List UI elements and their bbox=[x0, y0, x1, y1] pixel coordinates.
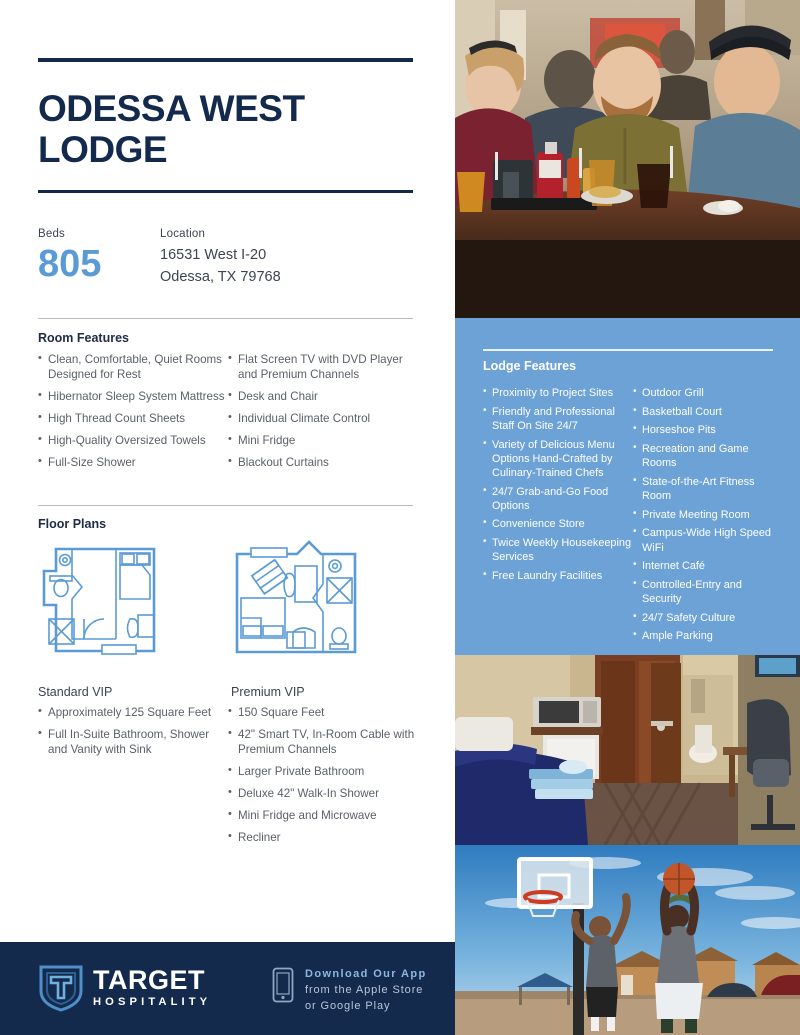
list-item: Horseshoe Pits bbox=[633, 423, 783, 437]
room-features-heading: Room Features bbox=[38, 331, 129, 345]
list-item: Twice Weekly Housekeeping Services bbox=[483, 536, 633, 564]
list-item: High-Quality Oversized Towels bbox=[38, 433, 228, 448]
app-download-line-3: or Google Play bbox=[305, 999, 427, 1015]
list-item: 150 Square Feet bbox=[228, 705, 416, 720]
list-item: Ample Parking bbox=[633, 629, 783, 643]
list-item: Hibernator Sleep System Mattress bbox=[38, 389, 228, 404]
beds-count: 805 bbox=[38, 244, 153, 286]
lodge-features-right-list: Outdoor Grill Basketball Court Horseshoe… bbox=[633, 386, 783, 644]
address-line-1: 16531 West I-20 bbox=[160, 245, 410, 267]
list-item: Mini Fridge and Microwave bbox=[228, 808, 416, 823]
lodge-features-columns: Proximity to Project Sites Friendly and … bbox=[483, 386, 783, 648]
standard-vip-column: Approximately 125 Square Feet Full In-Su… bbox=[38, 705, 228, 852]
list-item: Outdoor Grill bbox=[633, 386, 783, 400]
location-block: Location 16531 West I-20 Odessa, TX 7976… bbox=[160, 228, 410, 289]
room-features-right-list: Flat Screen TV with DVD Player and Premi… bbox=[228, 352, 416, 470]
shield-icon bbox=[38, 964, 84, 1012]
floor-plans-rule bbox=[38, 505, 413, 506]
list-item: 24/7 Grab-and-Go Food Options bbox=[483, 485, 633, 513]
lodge-features-right-column: Outdoor Grill Basketball Court Horseshoe… bbox=[633, 386, 783, 648]
app-download-line-1: Download Our App bbox=[305, 967, 427, 983]
floor-plans-diagrams bbox=[38, 540, 418, 665]
beds-label: Beds bbox=[38, 228, 153, 240]
premium-vip-label: Premium VIP bbox=[231, 685, 305, 699]
lodge-features-left-list: Proximity to Project Sites Friendly and … bbox=[483, 386, 633, 583]
vip-details-columns: Approximately 125 Square Feet Full In-Su… bbox=[38, 705, 418, 852]
photo-guest-room bbox=[455, 655, 800, 845]
lodge-fact-sheet: ODESSA WEST LODGE Beds 805 Location 1653… bbox=[0, 0, 800, 1035]
list-item: Desk and Chair bbox=[228, 389, 416, 404]
brand-secondary-text: HOSPITALITY bbox=[93, 997, 211, 1008]
list-item: Deluxe 42" Walk-In Shower bbox=[228, 786, 416, 801]
list-item: Controlled-Entry and Security bbox=[633, 578, 783, 606]
list-item: Basketball Court bbox=[633, 405, 783, 419]
room-features-left-column: Clean, Comfortable, Quiet Rooms Designed… bbox=[38, 352, 228, 477]
app-download-line-2: from the Apple Store bbox=[305, 983, 427, 999]
list-item: 24/7 Safety Culture bbox=[633, 611, 783, 625]
left-content-column: ODESSA WEST LODGE Beds 805 Location 1653… bbox=[0, 0, 455, 942]
list-item: Recreation and Game Rooms bbox=[633, 442, 783, 470]
photo-basketball-court bbox=[455, 845, 800, 1035]
list-item: Internet Café bbox=[633, 559, 783, 573]
list-item: Private Meeting Room bbox=[633, 508, 783, 522]
app-download-text: Download Our App from the Apple Store or… bbox=[305, 967, 427, 1015]
title-block: ODESSA WEST LODGE bbox=[38, 88, 418, 171]
footer-bar: TARGET HOSPITALITY Download Our App from… bbox=[0, 942, 455, 1035]
room-features-rule bbox=[38, 318, 413, 319]
premium-vip-floorplan-diagram bbox=[231, 540, 361, 660]
standard-vip-label: Standard VIP bbox=[38, 685, 112, 699]
list-item: High Thread Count Sheets bbox=[38, 411, 228, 426]
list-item: Full In-Suite Bathroom, Shower and Vanit… bbox=[38, 727, 228, 758]
top-divider-rule bbox=[38, 58, 413, 62]
list-item: Larger Private Bathroom bbox=[228, 764, 416, 779]
premium-vip-list: 150 Square Feet 42" Smart TV, In-Room Ca… bbox=[228, 705, 416, 845]
list-item: Proximity to Project Sites bbox=[483, 386, 633, 400]
room-features-left-list: Clean, Comfortable, Quiet Rooms Designed… bbox=[38, 352, 228, 470]
photo-dining-hall bbox=[455, 0, 800, 318]
list-item: Campus-Wide High Speed WiFi bbox=[633, 526, 783, 554]
list-item: Blackout Curtains bbox=[228, 455, 416, 470]
list-item: Individual Climate Control bbox=[228, 411, 416, 426]
floor-plans-heading: Floor Plans bbox=[38, 517, 106, 531]
brand-primary-text: TARGET bbox=[93, 967, 211, 994]
mobile-phone-icon bbox=[272, 967, 294, 1003]
premium-vip-column: 150 Square Feet 42" Smart TV, In-Room Ca… bbox=[228, 705, 416, 852]
list-item: State-of-the-Art Fitness Room bbox=[633, 475, 783, 503]
list-item: Flat Screen TV with DVD Player and Premi… bbox=[228, 352, 416, 383]
lodge-features-heading: Lodge Features bbox=[483, 359, 576, 373]
brand-wordmark: TARGET HOSPITALITY bbox=[93, 967, 211, 1008]
lodge-features-left-column: Proximity to Project Sites Friendly and … bbox=[483, 386, 633, 648]
title-bottom-rule bbox=[38, 190, 413, 193]
list-item: Full-Size Shower bbox=[38, 455, 228, 470]
page-title: ODESSA WEST LODGE bbox=[38, 88, 418, 171]
list-item: 42" Smart TV, In-Room Cable with Premium… bbox=[228, 727, 416, 758]
beds-block: Beds 805 bbox=[38, 228, 153, 286]
lodge-features-panel: Lodge Features Proximity to Project Site… bbox=[455, 318, 800, 655]
lodge-features-rule bbox=[483, 349, 773, 351]
right-photo-column: Lodge Features Proximity to Project Site… bbox=[455, 0, 800, 1035]
list-item: Free Laundry Facilities bbox=[483, 569, 633, 583]
room-features-right-column: Flat Screen TV with DVD Player and Premi… bbox=[228, 352, 416, 477]
address-line-2: Odessa, TX 79768 bbox=[160, 267, 410, 289]
list-item: Clean, Comfortable, Quiet Rooms Designed… bbox=[38, 352, 228, 383]
room-features-columns: Clean, Comfortable, Quiet Rooms Designed… bbox=[38, 352, 418, 477]
list-item: Friendly and Professional Staff On Site … bbox=[483, 405, 633, 433]
app-download-block[interactable]: Download Our App from the Apple Store or… bbox=[272, 967, 427, 1015]
standard-vip-list: Approximately 125 Square Feet Full In-Su… bbox=[38, 705, 228, 758]
list-item: Mini Fridge bbox=[228, 433, 416, 448]
list-item: Approximately 125 Square Feet bbox=[38, 705, 228, 720]
list-item: Variety of Delicious Menu Options Hand-C… bbox=[483, 438, 633, 481]
list-item: Recliner bbox=[228, 830, 416, 845]
brand-logo: TARGET HOSPITALITY bbox=[38, 964, 211, 1012]
list-item: Convenience Store bbox=[483, 517, 633, 531]
location-label: Location bbox=[160, 228, 410, 240]
standard-vip-floorplan-diagram bbox=[38, 543, 160, 658]
